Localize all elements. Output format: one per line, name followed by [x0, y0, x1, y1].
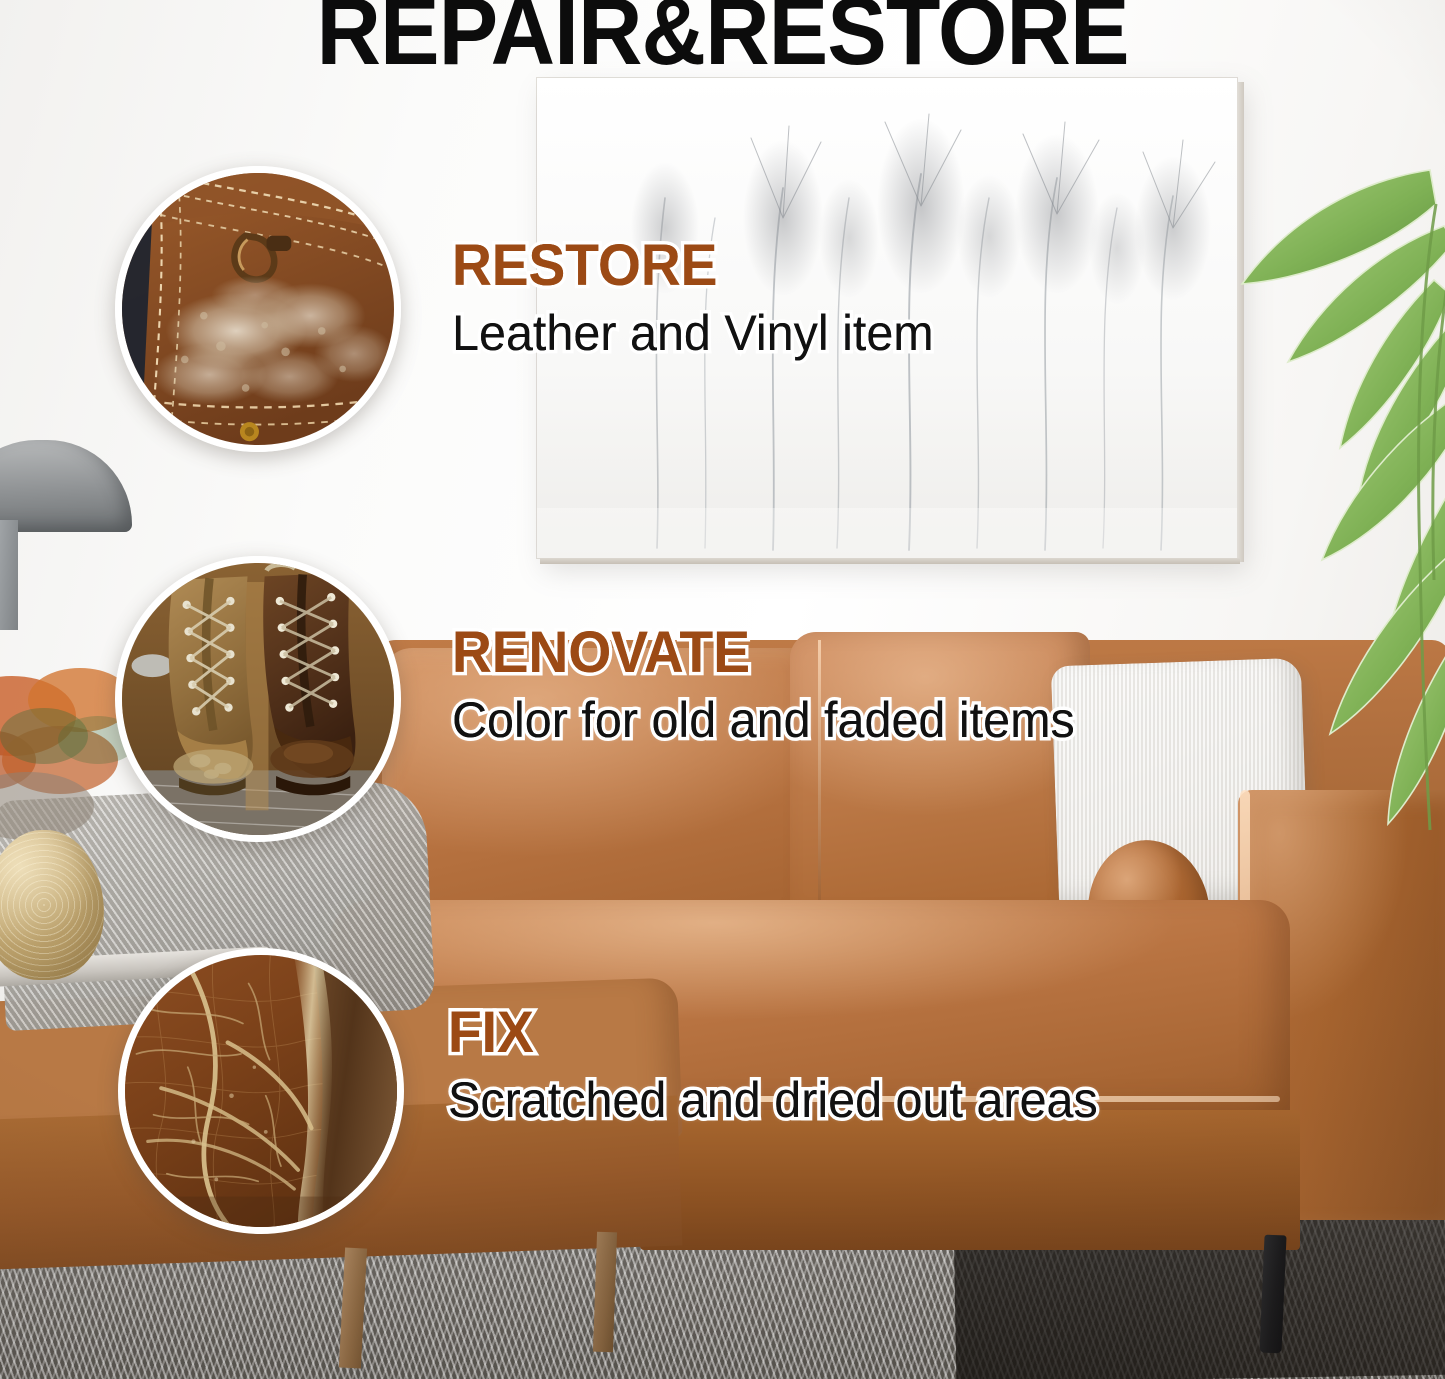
scratched-leather-thumbnail[interactable]: [118, 948, 404, 1234]
page-title: REPAIR&RESTORE: [51, 0, 1395, 80]
worn-boots-illustration: [122, 563, 394, 835]
potted-houseplant: [1230, 130, 1445, 850]
ottoman-leg-right: [593, 1232, 617, 1353]
scratched-leather-illustration: [125, 955, 397, 1227]
feature-subtitle-restore-fill: Leather and Vinyl item: [452, 307, 934, 360]
feature-subtitle-fix-fill: Scratched and dried out areas: [448, 1074, 1098, 1127]
feature-subtitle-renovate: Color for old and faded items Color for …: [452, 694, 1075, 747]
feature-kicker-renovate: RENOVATE RENOVATE: [452, 623, 1062, 682]
moldy-leather-illustration: [122, 173, 394, 445]
moldy-leather-bag-thumbnail[interactable]: [115, 166, 401, 452]
artwork-bottom-edge: [540, 558, 1240, 564]
feature-subtitle-restore: Leather and Vinyl item Leather and Vinyl…: [452, 307, 934, 360]
feature-subtitle-renovate-fill: Color for old and faded items: [452, 694, 1075, 747]
product-infographic: REPAIR&RESTORE: [0, 0, 1445, 1379]
feature-kicker-restore: RESTORE RESTORE: [452, 236, 924, 295]
sofa-base: [640, 1110, 1300, 1250]
feature-block-restore: RESTORE RESTORE Leather and Vinyl item L…: [452, 236, 949, 360]
feature-subtitle-fix: Scratched and dried out areas Scratched …: [448, 1074, 1098, 1127]
feature-kicker-fix: FIX FIX: [448, 1003, 1084, 1062]
lamp-stem: [0, 520, 18, 630]
feature-kicker-fix-fill: FIX: [448, 1003, 534, 1062]
feature-block-renovate: RENOVATE RENOVATE Color for old and fade…: [452, 623, 1094, 747]
feature-block-fix: FIX FIX Scratched and dried out areas Sc…: [448, 1003, 1118, 1127]
feature-kicker-renovate-fill: RENOVATE: [452, 623, 750, 682]
feature-kicker-restore-fill: RESTORE: [452, 236, 717, 295]
worn-leather-boots-thumbnail[interactable]: [115, 556, 401, 842]
